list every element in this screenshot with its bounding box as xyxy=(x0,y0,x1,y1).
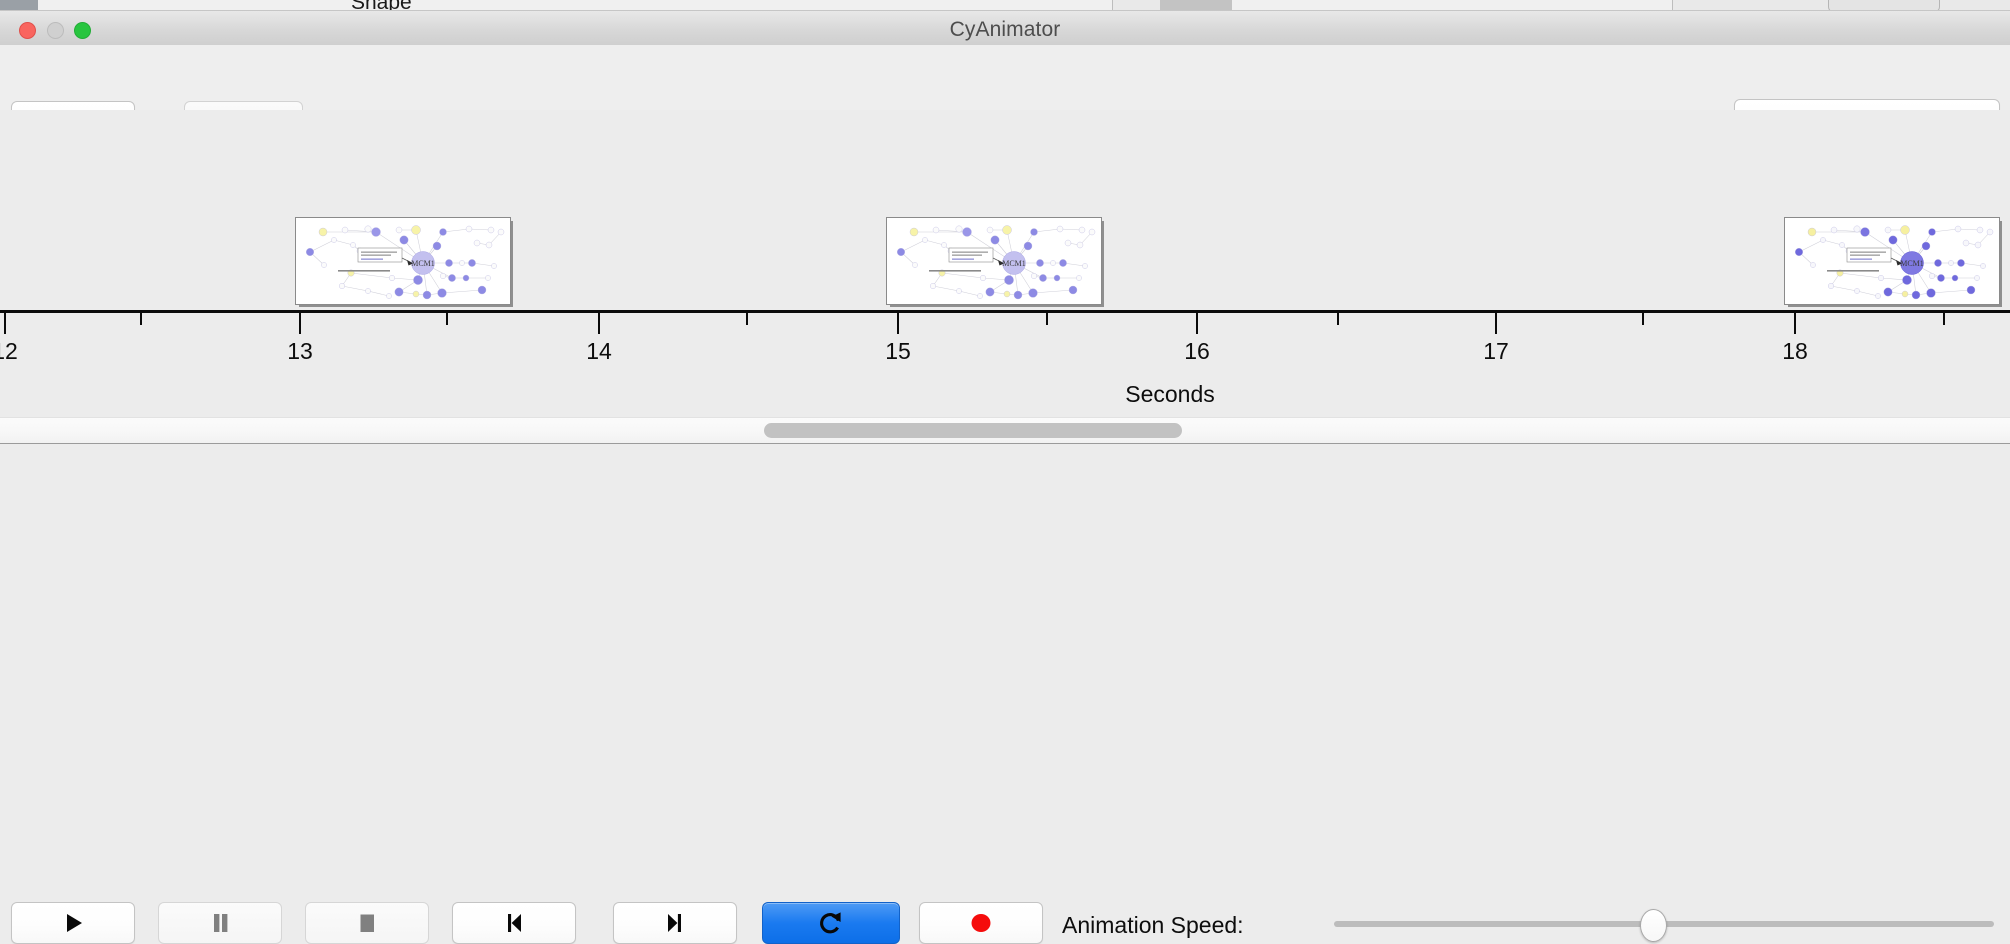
animation-speed-label: Animation Speed: xyxy=(1062,912,1244,939)
timeline-axis-line xyxy=(0,310,2010,313)
thumbnail-hub-label: MCM1 xyxy=(1900,259,1924,268)
tick-major xyxy=(897,313,899,334)
tick-minor xyxy=(1046,313,1048,325)
play-icon xyxy=(59,909,87,937)
tick-major xyxy=(1196,313,1198,334)
record-icon xyxy=(968,910,994,936)
tick-label: 13 xyxy=(287,338,313,365)
tick-label: 15 xyxy=(885,338,911,365)
tick-label: 18 xyxy=(1782,338,1808,365)
timeline-scrollbar[interactable] xyxy=(0,417,2010,444)
skip-back-icon xyxy=(500,909,528,937)
tick-label: 12 xyxy=(0,338,18,365)
tick-major xyxy=(1794,313,1796,334)
play-button[interactable] xyxy=(11,902,135,944)
window-title: CyAnimator xyxy=(0,18,2010,42)
playback-control-bar: Animation Speed: xyxy=(0,444,2010,510)
tick-label: 17 xyxy=(1483,338,1509,365)
tick-label: 16 xyxy=(1184,338,1210,365)
thumbnail-hub-label: MCM1 xyxy=(411,259,435,268)
title-bar[interactable]: CyAnimator xyxy=(0,11,2010,46)
next-frame-button[interactable] xyxy=(613,902,737,944)
tick-label: 14 xyxy=(586,338,612,365)
skip-forward-icon xyxy=(661,909,689,937)
record-button[interactable] xyxy=(919,902,1043,944)
axis-title-label: Seconds xyxy=(1125,381,1215,407)
pause-icon xyxy=(206,909,234,937)
tick-major xyxy=(598,313,600,334)
pause-button[interactable] xyxy=(158,902,282,944)
network-graph-thumbnail: MCM1 xyxy=(1785,218,1999,304)
stop-button[interactable] xyxy=(305,902,429,944)
prev-frame-button[interactable] xyxy=(452,902,576,944)
timeline-frame[interactable]: MCM1 xyxy=(886,217,1104,307)
frame-thumbnail[interactable]: MCM1 xyxy=(1784,217,2000,305)
animation-speed-slider[interactable] xyxy=(1334,921,1994,927)
stop-icon xyxy=(353,909,381,937)
background-app-strip: Shape xyxy=(0,0,2010,11)
cyanimator-window: Shape CyAnimator + Clear All Frames MCM1… xyxy=(0,0,2010,510)
frame-thumbnail[interactable]: MCM1 xyxy=(295,217,511,305)
toolbar: + Clear All Frames xyxy=(0,45,2010,111)
tick-minor xyxy=(446,313,448,325)
tick-minor xyxy=(140,313,142,325)
slider-thumb[interactable] xyxy=(1640,909,1667,942)
tick-minor xyxy=(746,313,748,325)
network-graph-thumbnail: MCM1 xyxy=(887,218,1101,304)
frame-thumbnail[interactable]: MCM1 xyxy=(886,217,1102,305)
tick-minor xyxy=(1943,313,1945,325)
timeline-frame[interactable]: MCM1 xyxy=(295,217,513,307)
tick-major xyxy=(4,313,6,334)
loop-button[interactable] xyxy=(762,902,900,944)
timeline-frame[interactable]: MCM1 xyxy=(1784,217,2002,307)
timeline-scrollbar-thumb[interactable] xyxy=(764,423,1182,438)
axis-title: Seconds xyxy=(0,381,2010,408)
tick-minor xyxy=(1642,313,1644,325)
tick-minor xyxy=(1337,313,1339,325)
tick-major xyxy=(299,313,301,334)
tick-major xyxy=(1495,313,1497,334)
loop-icon xyxy=(816,908,846,938)
frame-timeline-panel[interactable]: MCM1MCM1MCM1 xyxy=(0,110,2010,417)
network-graph-thumbnail: MCM1 xyxy=(296,218,510,304)
thumbnail-hub-label: MCM1 xyxy=(1002,259,1026,268)
